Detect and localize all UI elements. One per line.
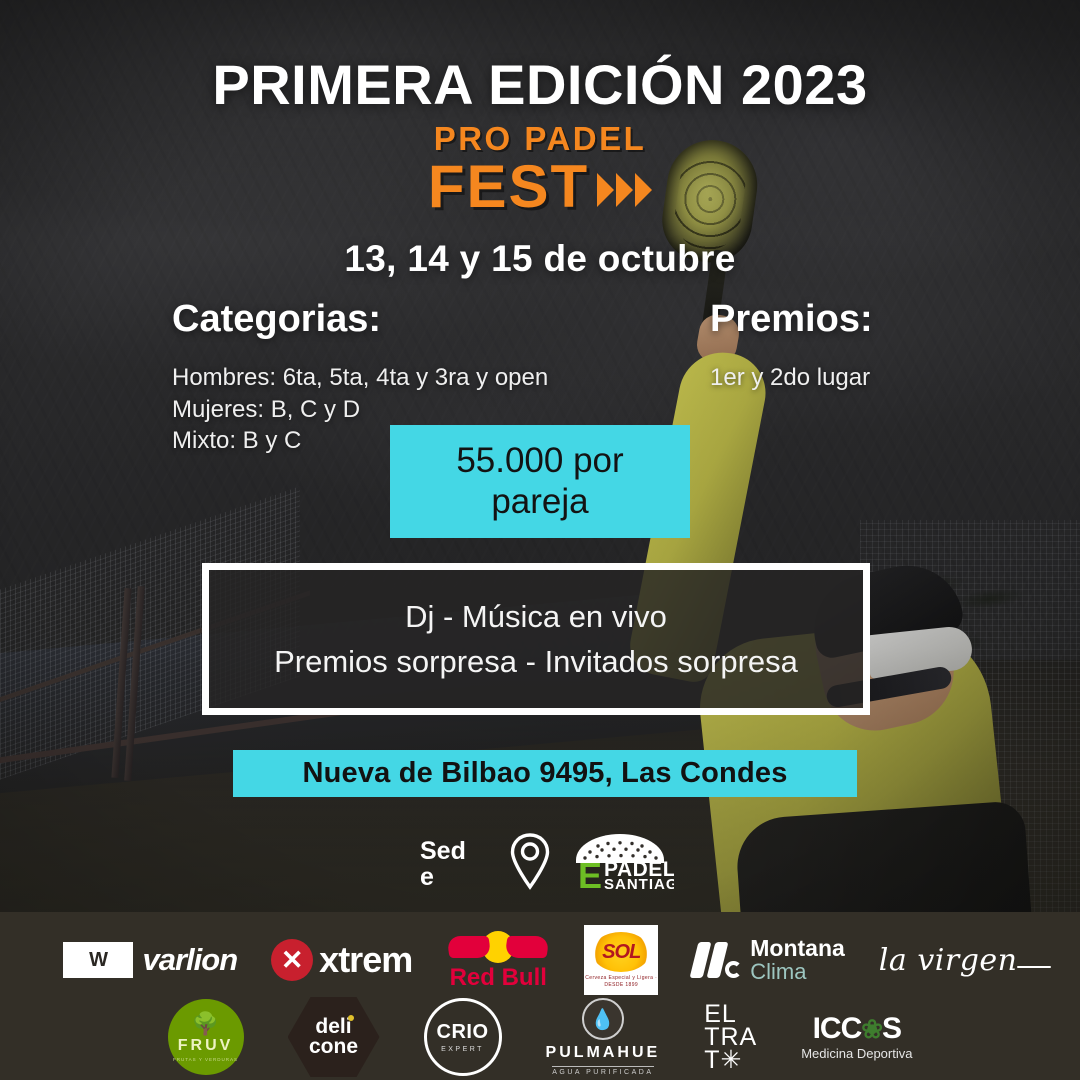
sponsor-logo-la-virgen: la virgen	[879, 943, 1018, 978]
svg-text:SANTIAGO: SANTIAGO	[604, 876, 674, 890]
deli-word: deli	[315, 1015, 351, 1038]
pro-padel-fest-logo: PRO PADEL FEST	[0, 122, 1080, 217]
montana-mark-icon	[692, 940, 742, 980]
deli-dot-icon	[348, 1015, 354, 1021]
address-badge: Nueva de Bilbao 9495, Las Condes	[233, 750, 857, 797]
crio-wordmark: CRIO	[437, 1021, 489, 1044]
fruv-wordmark: FRUV	[178, 1037, 234, 1055]
price-badge: 55.000 por pareja	[390, 425, 690, 538]
iccos-word: ICC	[813, 1012, 862, 1045]
prizes-heading: Premios:	[710, 298, 873, 341]
extras-line-2: Premios sorpresa - Invitados sorpresa	[274, 643, 798, 680]
xtrem-wordmark: xtrem	[319, 939, 412, 981]
sponsor-logo-sol: SOL Cerveza Especial y Ligera · DESDE 18…	[584, 925, 658, 995]
montana-wordmark: Montana	[750, 937, 845, 960]
varlion-mark-glyph: W	[89, 950, 106, 970]
fruv-tagline: FRUTAS Y VERDURAS	[173, 1057, 238, 1062]
sol-wordmark: SOL	[602, 941, 640, 964]
sponsor-row-bottom: 🌳 FRUV FRUTAS Y VERDURAS deli cone CRIO …	[0, 998, 1080, 1076]
sponsor-logo-deli-cone: deli cone	[288, 997, 380, 1077]
categories-heading: Categorias:	[172, 298, 381, 341]
svg-text:E: E	[578, 855, 602, 890]
sponsor-logo-varlion: W varlion	[63, 942, 238, 978]
sponsor-logo-red-bull: Red Bull	[446, 931, 550, 990]
sponsor-logo-montana-clima: Montana Clima	[692, 937, 845, 983]
epadel-santiago-logo: E PADEL SANTIAGO	[566, 834, 674, 890]
red-bull-wordmark: Red Bull	[450, 966, 547, 990]
red-bull-bull-right	[505, 936, 550, 958]
chevrons-right-icon	[597, 173, 652, 207]
sponsor-logo-xtrem: ✕ xtrem	[271, 939, 412, 981]
pulmahue-tagline: AGUA PURIFICADA	[552, 1066, 653, 1076]
prizes-line: 1er y 2do lugar	[710, 362, 870, 394]
price-line-1: 55.000 por	[456, 441, 623, 480]
event-poster: PRIMERA EDICIÓN 2023 PRO PADEL FEST 13, …	[0, 0, 1080, 1080]
venue-label: Sede	[420, 838, 472, 891]
price-line-2: pareja	[491, 482, 588, 521]
sol-tagline: Cerveza Especial y Ligera · DESDE 1899	[584, 975, 658, 988]
varlion-mark-icon: W	[63, 942, 133, 978]
deli-wordmark: deli	[315, 1017, 351, 1037]
event-dates: 13, 14 y 15 de octubre	[0, 238, 1080, 280]
extras-line-1: Dj - Música en vivo	[405, 598, 667, 635]
el-trat-line-3: T✳	[704, 1049, 742, 1072]
red-bull-bulls-icon	[446, 931, 550, 965]
categories-line-men: Hombres: 6ta, 5ta, 4ta y 3ra y open	[172, 362, 548, 394]
sponsor-logo-el-trat: EL TRA T✳	[704, 1003, 757, 1072]
iccos-word-end: S	[882, 1012, 901, 1045]
sponsor-logo-pulmahue: 💧 PULMAHUE AGUA PURIFICADA	[546, 998, 661, 1076]
sponsor-logo-crio-expert: CRIO EXPERT	[424, 998, 502, 1076]
crio-tagline: EXPERT	[441, 1046, 484, 1053]
water-drop-icon: 💧	[582, 998, 624, 1040]
sponsor-row-top: W varlion ✕ xtrem Red Bull SOL	[0, 924, 1080, 996]
laurel-icon: ❀	[861, 1014, 882, 1044]
sol-sun-icon: SOL	[592, 932, 650, 972]
red-bull-bull-left	[447, 936, 492, 958]
venue-row: Sede	[420, 832, 680, 902]
prizes-list: 1er y 2do lugar	[710, 362, 870, 394]
iccos-wordmark: ICC❀S	[813, 1014, 901, 1044]
logo-fest-text: FEST	[428, 157, 589, 217]
tree-icon: 🌳	[192, 1013, 219, 1035]
cone-wordmark: cone	[309, 1037, 358, 1057]
montana-subword: Clima	[750, 961, 845, 983]
iccos-tagline: Medicina Deportiva	[801, 1046, 912, 1061]
sponsor-logo-fruv: 🌳 FRUV FRUTAS Y VERDURAS	[168, 999, 244, 1075]
poster-title: PRIMERA EDICIÓN 2023	[0, 52, 1080, 117]
pulmahue-wordmark: PULMAHUE	[546, 1044, 661, 1062]
extras-panel: Dj - Música en vivo Premios sorpresa - I…	[202, 563, 870, 715]
varlion-wordmark: varlion	[143, 942, 238, 978]
location-pin-icon	[508, 832, 552, 890]
xtrem-x-icon: ✕	[271, 939, 313, 981]
logo-top-text: PRO PADEL	[0, 122, 1080, 155]
sponsor-bar: W varlion ✕ xtrem Red Bull SOL	[0, 912, 1080, 1080]
sponsor-logo-iccos: ICC❀S Medicina Deportiva	[801, 1014, 912, 1061]
categories-line-women: Mujeres: B, C y D	[172, 394, 548, 426]
